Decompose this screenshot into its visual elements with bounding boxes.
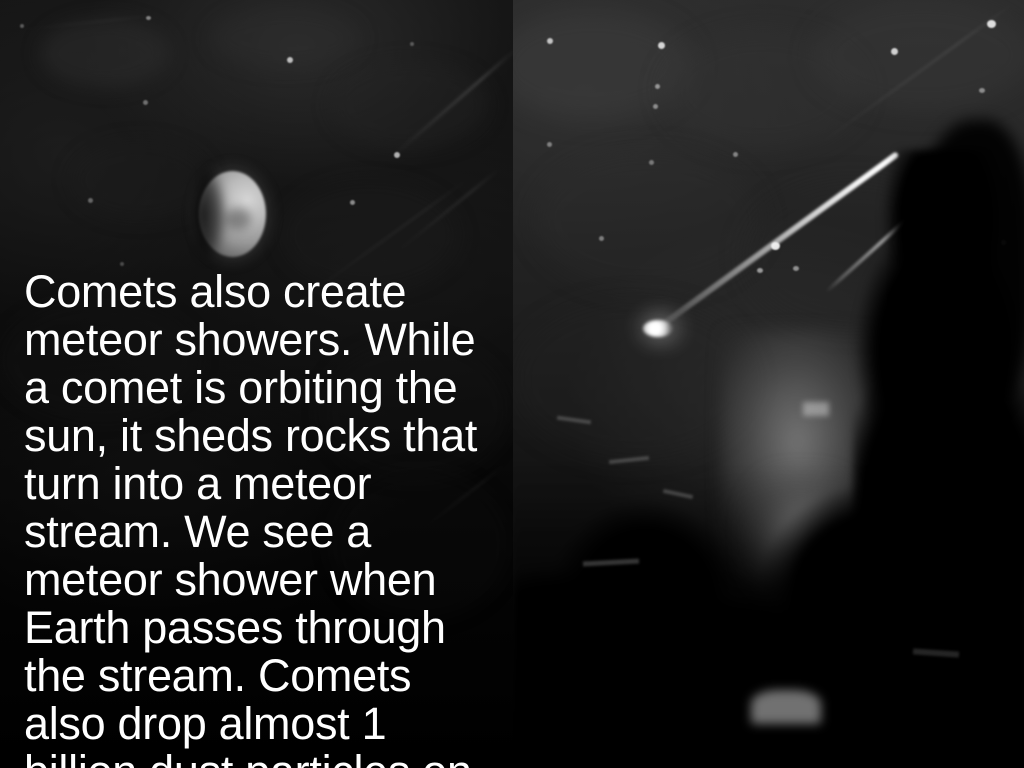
sky-blotch bbox=[70, 140, 210, 220]
star bbox=[733, 152, 738, 157]
sky-blotch bbox=[330, 60, 490, 150]
star bbox=[757, 268, 763, 273]
star bbox=[649, 160, 654, 165]
slide-canvas: Comets also create meteor showers. While… bbox=[0, 0, 1024, 768]
star bbox=[20, 24, 24, 28]
star bbox=[287, 57, 293, 63]
star bbox=[658, 42, 665, 49]
foliage-highlight bbox=[751, 690, 821, 724]
slide-caption: Comets also create meteor showers. While… bbox=[24, 268, 494, 768]
star bbox=[143, 100, 148, 105]
star bbox=[655, 84, 660, 89]
sky-blotch bbox=[40, 18, 170, 88]
star bbox=[653, 104, 658, 109]
sky-blotch bbox=[533, 150, 763, 290]
star bbox=[547, 142, 552, 147]
star bbox=[599, 236, 604, 241]
star bbox=[410, 42, 414, 46]
sky-blotch bbox=[210, 8, 360, 68]
star bbox=[146, 16, 151, 20]
star bbox=[350, 200, 355, 205]
star bbox=[88, 198, 93, 203]
star bbox=[793, 266, 799, 271]
star bbox=[979, 88, 985, 93]
meteor-head bbox=[643, 320, 673, 337]
right-meteor-photo bbox=[513, 0, 1024, 768]
star bbox=[547, 38, 553, 44]
star bbox=[891, 48, 898, 55]
moon-mare bbox=[225, 208, 251, 230]
star bbox=[394, 152, 400, 158]
moon-terminator-shadow bbox=[195, 168, 225, 260]
foliage-highlight bbox=[803, 402, 829, 416]
